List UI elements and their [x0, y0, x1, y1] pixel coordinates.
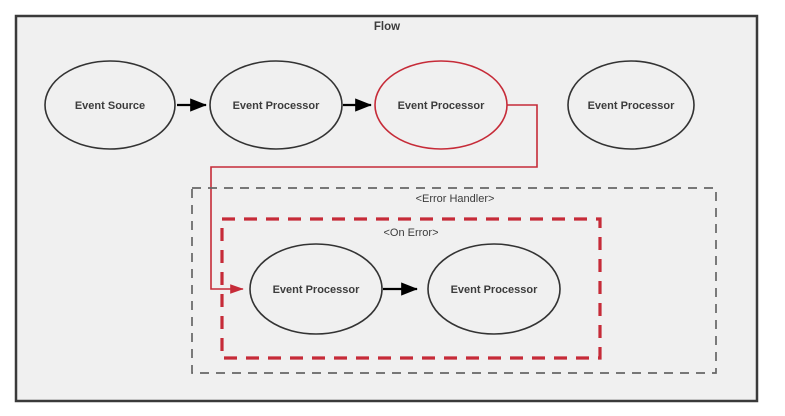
- node-event-source[interactable]: Event Source: [45, 61, 175, 149]
- error-processor-1-label: Event Processor: [273, 284, 361, 296]
- event-processor-2-label: Event Processor: [398, 100, 486, 112]
- node-error-processor-1[interactable]: Event Processor: [250, 244, 382, 334]
- event-processor-1-label: Event Processor: [233, 100, 321, 112]
- flow-title: Flow: [374, 21, 400, 33]
- node-event-processor-2[interactable]: Event Processor: [375, 61, 507, 149]
- event-processor-3-label: Event Processor: [588, 100, 676, 112]
- error-processor-2-label: Event Processor: [451, 284, 539, 296]
- event-source-label: Event Source: [75, 100, 145, 112]
- node-event-processor-3[interactable]: Event Processor: [568, 61, 694, 149]
- node-error-processor-2[interactable]: Event Processor: [428, 244, 560, 334]
- on-error-title: <On Error>: [383, 227, 438, 239]
- error-handler-title: <Error Handler>: [416, 193, 495, 205]
- diagram-canvas: Flow Event Source Event Processor Event …: [0, 0, 785, 416]
- flow-diagram-svg: Flow Event Source Event Processor Event …: [0, 0, 785, 416]
- node-event-processor-1[interactable]: Event Processor: [210, 61, 342, 149]
